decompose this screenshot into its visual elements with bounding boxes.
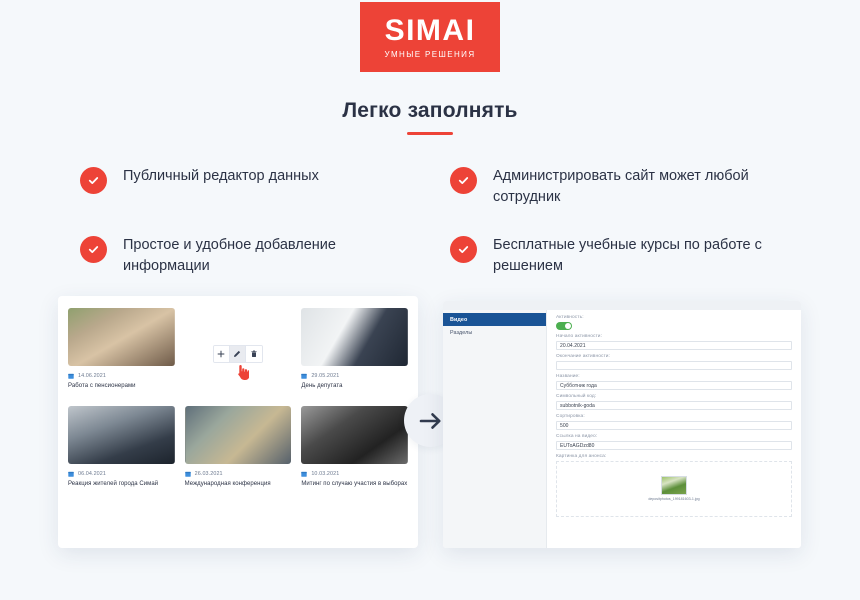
field-name: Название: Субботник года [556, 374, 792, 390]
field-label: Картинка для анонса: [556, 454, 792, 459]
video-link-input[interactable]: EUToAGDzd80 [556, 441, 792, 450]
title-underline-accent [407, 132, 453, 135]
field-sort: Сортировка: 500 [556, 414, 792, 430]
news-date-text: 14.06.2021 [78, 373, 106, 379]
edit-button[interactable] [230, 346, 246, 362]
news-date-text: 06.04.2021 [78, 471, 106, 477]
admin-form-screenshot: Видео Разделы Активность: Начало активно… [443, 301, 801, 548]
calendar-icon [68, 373, 74, 379]
field-activity-start: Начало активности: 20.04.2021 [556, 334, 792, 350]
news-title: Реакция жителей города Симай [68, 481, 175, 489]
feature-label: Администрировать сайт может любой сотруд… [493, 166, 780, 208]
feature-item: Публичный редактор данных [80, 166, 450, 208]
field-symbolic-code: Символьный код: subbotnik-goda [556, 394, 792, 410]
news-card[interactable]: 14.06.2021 Работа с пенсионерами [68, 308, 175, 400]
check-circle-icon [450, 167, 477, 194]
add-button[interactable] [214, 346, 230, 362]
feature-label: Простое и удобное добавление информации [123, 235, 413, 277]
sidebar-item-video[interactable]: Видео [443, 313, 546, 326]
admin-body: Видео Разделы Активность: Начало активно… [443, 310, 801, 548]
delete-button[interactable] [246, 346, 262, 362]
screenshot-showcase: 14.06.2021 Работа с пенсионерами [0, 296, 860, 551]
activity-end-input[interactable] [556, 361, 792, 370]
field-label: Ссылка на видео: [556, 434, 792, 439]
field-announce-image: Картинка для анонса: depositphotos_19918… [556, 454, 792, 517]
field-video-link: Ссылка на видео: EUToAGDzd80 [556, 434, 792, 450]
news-card[interactable]: 29.05.2021 День депутата [301, 308, 408, 400]
check-circle-icon [80, 167, 107, 194]
news-date: 06.04.2021 [68, 471, 175, 477]
feature-label: Бесплатные учебные курсы по работе с реш… [493, 235, 780, 277]
edit-toolbar [213, 345, 263, 363]
activity-start-input[interactable]: 20.04.2021 [556, 341, 792, 350]
news-thumbnail [68, 406, 175, 464]
symbolic-code-input[interactable]: subbotnik-goda [556, 401, 792, 410]
news-thumbnail [301, 308, 408, 366]
news-date: 29.05.2021 [301, 373, 408, 379]
arrow-right-icon [419, 411, 443, 431]
calendar-icon [185, 471, 191, 477]
plus-icon [217, 350, 225, 358]
news-date: 26.03.2021 [185, 471, 292, 477]
name-input[interactable]: Субботник года [556, 381, 792, 390]
field-label: Активность: [556, 315, 792, 320]
logo-tagline: УМНЫЕ РЕШЕНИЯ [384, 51, 475, 59]
feature-item: Администрировать сайт может любой сотруд… [450, 166, 780, 208]
check-circle-icon [80, 236, 107, 263]
page-title: Легко заполнять [0, 99, 860, 123]
image-dropzone[interactable]: depositphotos_199181603-1.jpg [556, 461, 792, 517]
public-editor-screenshot: 14.06.2021 Работа с пенсионерами [58, 296, 418, 548]
logo-header: SIMAI УМНЫЕ РЕШЕНИЯ [0, 0, 860, 72]
sidebar-item-sections[interactable]: Разделы [443, 326, 546, 339]
news-date-text: 29.05.2021 [311, 373, 339, 379]
trash-icon [250, 350, 258, 358]
news-date-text: 26.03.2021 [195, 471, 223, 477]
calendar-icon [68, 471, 74, 477]
news-title: Международная конференция [185, 481, 292, 489]
field-activity: Активность: [556, 315, 792, 330]
news-card[interactable]: 06.04.2021 Реакция жителей города Симай [68, 406, 175, 489]
news-date-text: 10.03.2021 [311, 471, 339, 477]
logo-wordmark: SIMAI [385, 16, 476, 46]
simai-logo: SIMAI УМНЫЕ РЕШЕНИЯ [360, 2, 500, 72]
uploaded-file-name: depositphotos_199181603-1.jpg [648, 497, 699, 501]
news-title: Митинг по случаю участия в выборах [301, 481, 408, 489]
field-label: Название: [556, 374, 792, 379]
news-card[interactable]: 26.03.2021 Международная конференция [185, 406, 292, 489]
calendar-icon [301, 373, 307, 379]
field-label: Символьный код: [556, 394, 792, 399]
field-label: Окончание активности: [556, 354, 792, 359]
activity-toggle[interactable] [556, 322, 572, 330]
news-card-grid: 14.06.2021 Работа с пенсионерами [68, 308, 408, 489]
check-circle-icon [450, 236, 477, 263]
sort-input[interactable]: 500 [556, 421, 792, 430]
pointer-hand-icon [235, 364, 249, 380]
news-thumbnail [301, 406, 408, 464]
admin-sidebar: Видео Разделы [443, 310, 547, 548]
feature-list: Публичный редактор данных Администрирова… [80, 166, 780, 277]
admin-form-fields: Активность: Начало активности: 20.04.202… [547, 310, 801, 548]
field-label: Сортировка: [556, 414, 792, 419]
field-label: Начало активности: [556, 334, 792, 339]
news-thumbnail [68, 308, 175, 366]
news-title: День депутата [301, 383, 408, 391]
feature-label: Публичный редактор данных [123, 166, 319, 187]
admin-topbar [443, 301, 801, 310]
news-date: 10.03.2021 [301, 471, 408, 477]
news-thumbnail [185, 406, 292, 464]
calendar-icon [301, 471, 307, 477]
news-title: Работа с пенсионерами [68, 383, 175, 391]
news-card[interactable]: 10.03.2021 Митинг по случаю участия в вы… [301, 406, 408, 489]
field-activity-end: Окончание активности: [556, 354, 792, 370]
feature-item: Простое и удобное добавление информации [80, 235, 450, 277]
pencil-icon [233, 350, 241, 358]
feature-item: Бесплатные учебные курсы по работе с реш… [450, 235, 780, 277]
section-header: Легко заполнять [0, 99, 860, 135]
news-date: 14.06.2021 [68, 373, 175, 379]
uploaded-image-thumbnail [661, 476, 687, 495]
edit-placeholder-card [185, 308, 292, 400]
